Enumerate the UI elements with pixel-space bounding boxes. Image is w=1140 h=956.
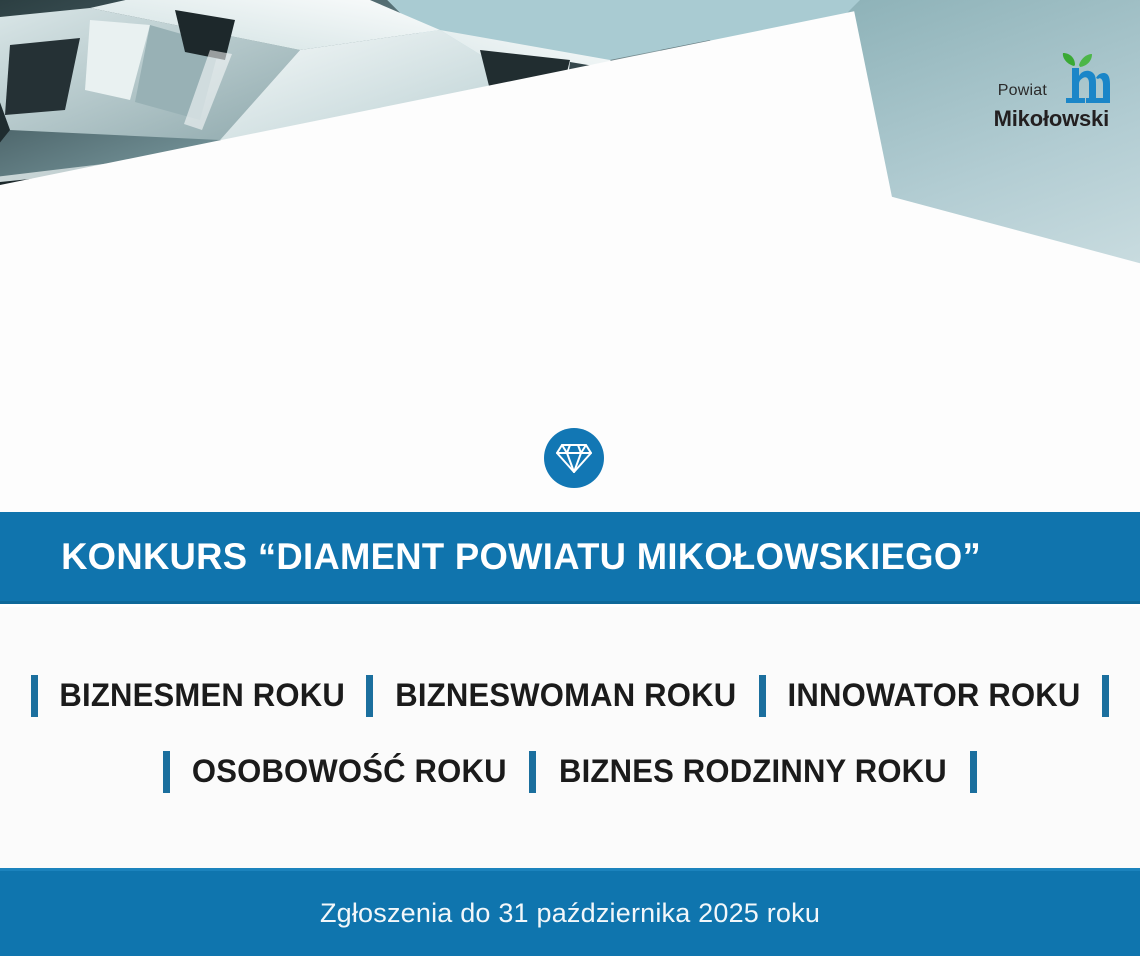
pipe-divider-icon	[163, 751, 170, 793]
pipe-divider-icon	[529, 751, 536, 793]
category-biznesmen-roku: BIZNESMEN ROKU	[59, 677, 345, 714]
category-bizneswoman-roku: BIZNESWOMAN ROKU	[396, 677, 737, 714]
category-row-2: OSOBOWOŚĆ ROKU BIZNES RODZINNY ROKU	[0, 751, 1140, 793]
deadline-text: Zgłoszenia do 31 października 2025 roku	[320, 898, 820, 929]
pipe-divider-icon	[759, 675, 766, 717]
logo-mikolowski-label: Mikołowski	[994, 108, 1109, 130]
logo-powiat-label: Powiat	[998, 83, 1047, 106]
title-banner: KONKURS “DIAMENT POWIATU MIKOŁOWSKIEGO”	[0, 512, 1140, 604]
deadline-banner: Zgłoszenia do 31 października 2025 roku	[0, 868, 1140, 956]
page-title: KONKURS “DIAMENT POWIATU MIKOŁOWSKIEGO”	[0, 536, 981, 578]
pipe-divider-icon	[366, 675, 373, 717]
category-biznes-rodzinny-roku: BIZNES RODZINNY ROKU	[559, 753, 947, 790]
sprouting-m-monogram-icon	[1052, 52, 1110, 106]
pipe-divider-icon	[1102, 675, 1109, 717]
category-row-1: BIZNESMEN ROKU BIZNESWOMAN ROKU INNOWATO…	[0, 675, 1140, 717]
category-section: BIZNESMEN ROKU BIZNESWOMAN ROKU INNOWATO…	[0, 607, 1140, 868]
pipe-divider-icon	[31, 675, 38, 717]
pipe-divider-icon	[970, 751, 977, 793]
hero-image-area: Powiat Mikołowski	[0, 0, 1140, 512]
poster: Powiat Mikołowski	[0, 0, 1140, 956]
category-innowator-roku: INNOWATOR ROKU	[787, 677, 1080, 714]
diamond-gem-icon	[556, 441, 592, 475]
category-osobowosc-roku: OSOBOWOŚĆ ROKU	[192, 753, 507, 790]
logo-top-row: Powiat	[998, 52, 1110, 106]
diamond-badge	[544, 428, 604, 488]
powiat-mikolowski-logo: Powiat Mikołowski	[994, 52, 1110, 130]
